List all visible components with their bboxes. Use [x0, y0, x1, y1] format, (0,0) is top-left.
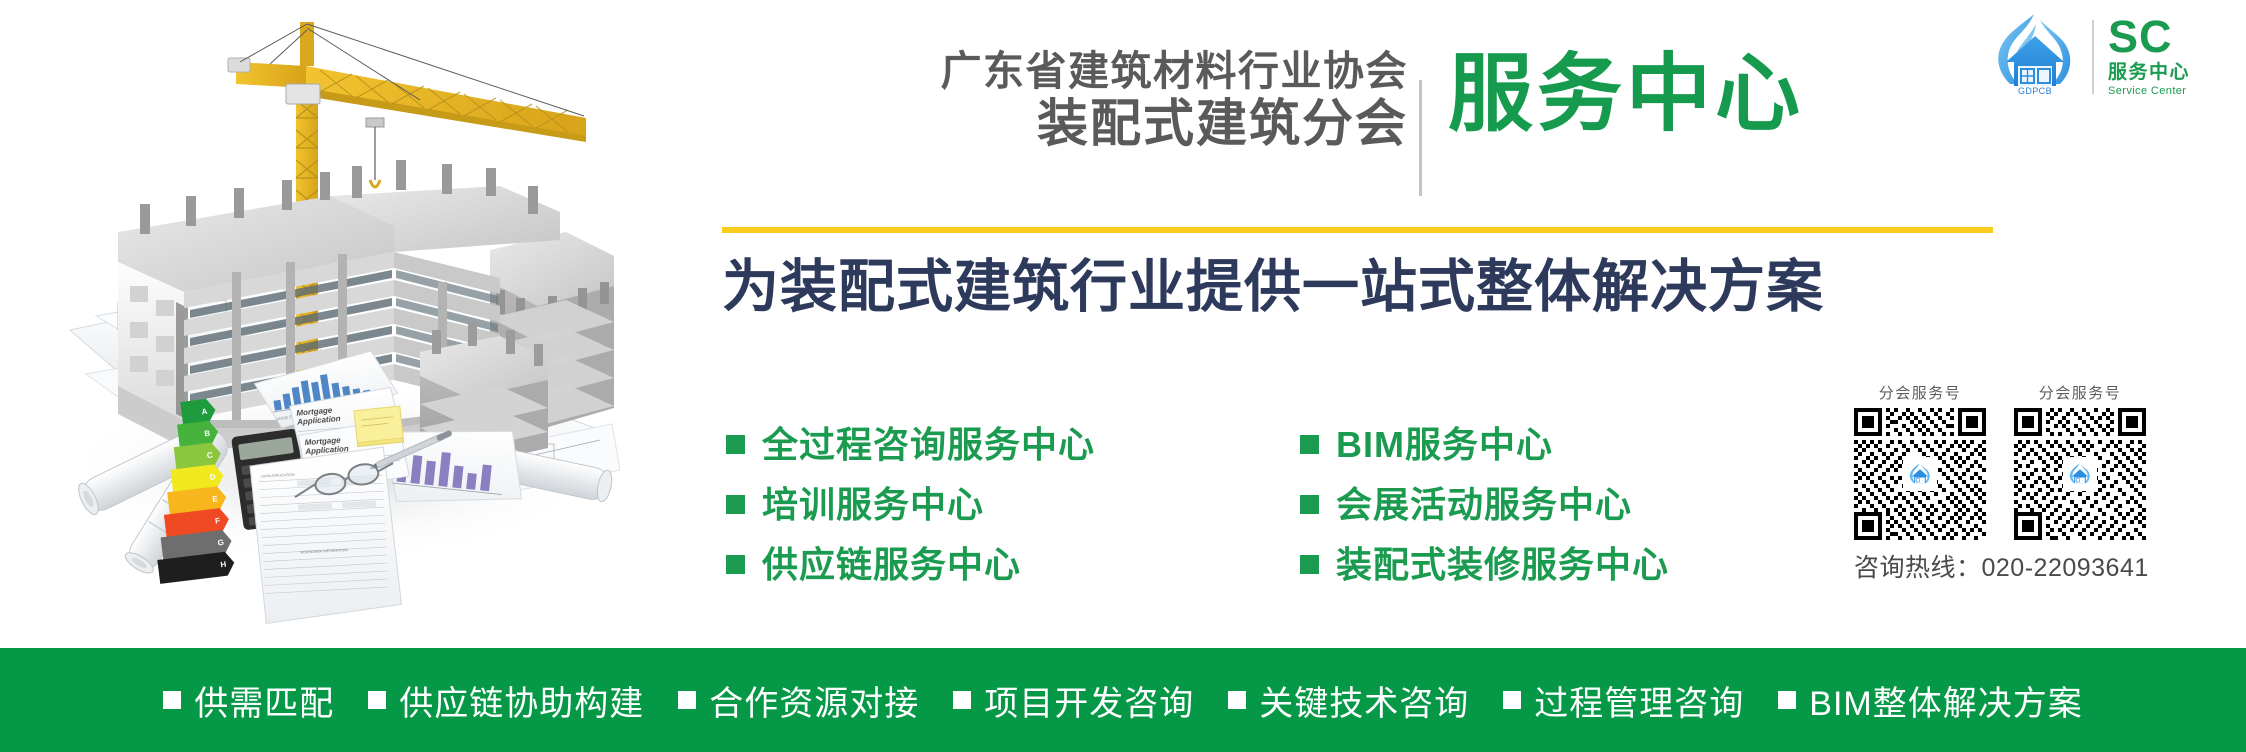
- association-name-line2: 装配式建筑分会: [588, 95, 1408, 152]
- square-bullet-icon: [1228, 691, 1246, 709]
- square-bullet-icon: [1778, 691, 1796, 709]
- list-item[interactable]: 供应链服务中心: [726, 532, 1095, 592]
- keyword-label: 过程管理咨询: [1534, 676, 1744, 725]
- qr-caption: 分会服务号: [2014, 382, 2146, 403]
- service-label: 培训服务中心: [762, 476, 984, 528]
- square-bullet-icon: [1300, 555, 1319, 574]
- logo-chinese-text: 服务中心: [2108, 61, 2228, 85]
- service-label: 供应链服务中心: [762, 536, 1021, 588]
- association-name-line1: 广东省建筑材料行业协会: [588, 48, 1408, 95]
- square-bullet-icon: [726, 435, 745, 454]
- keyword-label: 项目开发咨询: [984, 676, 1194, 725]
- service-label: 全过程咨询服务中心: [762, 416, 1095, 468]
- association-title-block: 广东省建筑材料行业协会 装配式建筑分会: [588, 48, 1408, 152]
- list-item[interactable]: 装配式装修服务中心: [1300, 532, 1669, 592]
- title-vertical-divider: [1419, 80, 1422, 196]
- square-bullet-icon: [953, 691, 971, 709]
- keyword-label: 供应链协助构建: [399, 676, 644, 725]
- logo-mark-caption: GDPCB: [1988, 86, 2082, 96]
- square-bullet-icon: [368, 691, 386, 709]
- service-label: 会展活动服务中心: [1336, 476, 1632, 528]
- main-headline: 为装配式建筑行业提供一站式整体解决方案: [722, 256, 2002, 319]
- logo-wordmark: SC 服务中心 Service Center: [2108, 16, 2228, 98]
- service-list-right: BIM服务中心 会展活动服务中心 装配式装修服务中心: [1300, 412, 1669, 592]
- hotline-text: 咨询热线：020-22093641: [1854, 548, 2194, 584]
- list-item[interactable]: BIM服务中心: [1300, 412, 1669, 472]
- square-bullet-icon: [163, 691, 181, 709]
- qr-code-icon[interactable]: [1854, 408, 1986, 540]
- logo-divider: [2092, 20, 2094, 94]
- qr-code-icon[interactable]: [2014, 408, 2146, 540]
- list-item[interactable]: 项目开发咨询: [953, 676, 1194, 725]
- list-item[interactable]: 会展活动服务中心: [1300, 472, 1669, 532]
- square-bullet-icon: [1300, 435, 1319, 454]
- keyword-label: 合作资源对接: [709, 676, 919, 725]
- keyword-label: 关键技术咨询: [1259, 676, 1469, 725]
- square-bullet-icon: [1503, 691, 1521, 709]
- list-item[interactable]: 合作资源对接: [678, 676, 919, 725]
- qr-center-logo-icon: [2063, 457, 2097, 491]
- logo-english-text: Service Center: [2108, 85, 2228, 98]
- service-label: 装配式装修服务中心: [1336, 536, 1669, 588]
- bottom-keyword-bar: 供需匹配 供应链协助构建 合作资源对接 项目开发咨询 关键技术咨询 过程管理咨询…: [0, 648, 2246, 752]
- construction-site-photo: ABC DEF GH: [0, 0, 620, 650]
- list-item[interactable]: 过程管理咨询: [1503, 676, 1744, 725]
- keyword-label: BIM整体解决方案: [1809, 676, 2082, 725]
- qr-code-row: 分会服务号: [1854, 382, 2194, 540]
- yellow-divider-rule: [722, 227, 1993, 233]
- qr-caption: 分会服务号: [1854, 382, 1986, 403]
- qr-code-item[interactable]: 分会服务号: [2014, 382, 2146, 540]
- list-item[interactable]: 关键技术咨询: [1228, 676, 1469, 725]
- list-item[interactable]: 供需匹配: [163, 676, 334, 725]
- qr-code-item[interactable]: 分会服务号: [1854, 382, 1986, 540]
- list-item[interactable]: 全过程咨询服务中心: [726, 412, 1095, 472]
- qr-center-logo-icon: [1903, 457, 1937, 491]
- svg-text:G: G: [217, 538, 224, 548]
- keyword-label: 供需匹配: [194, 676, 334, 725]
- service-list-left: 全过程咨询服务中心 培训服务中心 供应链服务中心: [726, 412, 1095, 592]
- service-center-title: 服务中心: [1448, 52, 1804, 137]
- service-label: BIM服务中心: [1336, 416, 1553, 468]
- square-bullet-icon: [726, 555, 745, 574]
- list-item[interactable]: 培训服务中心: [726, 472, 1095, 532]
- logo-sc-text: SC: [2108, 16, 2228, 59]
- list-item[interactable]: BIM整体解决方案: [1778, 676, 2082, 725]
- service-center-logo[interactable]: GDPCB SC 服务中心 Service Center: [1988, 14, 2228, 100]
- qr-code-block: 分会服务号: [1854, 382, 2194, 584]
- square-bullet-icon: [1300, 495, 1319, 514]
- banner-root: ABC DEF GH: [0, 0, 2246, 752]
- list-item[interactable]: 供应链协助构建: [368, 676, 644, 725]
- square-bullet-icon: [678, 691, 696, 709]
- square-bullet-icon: [726, 495, 745, 514]
